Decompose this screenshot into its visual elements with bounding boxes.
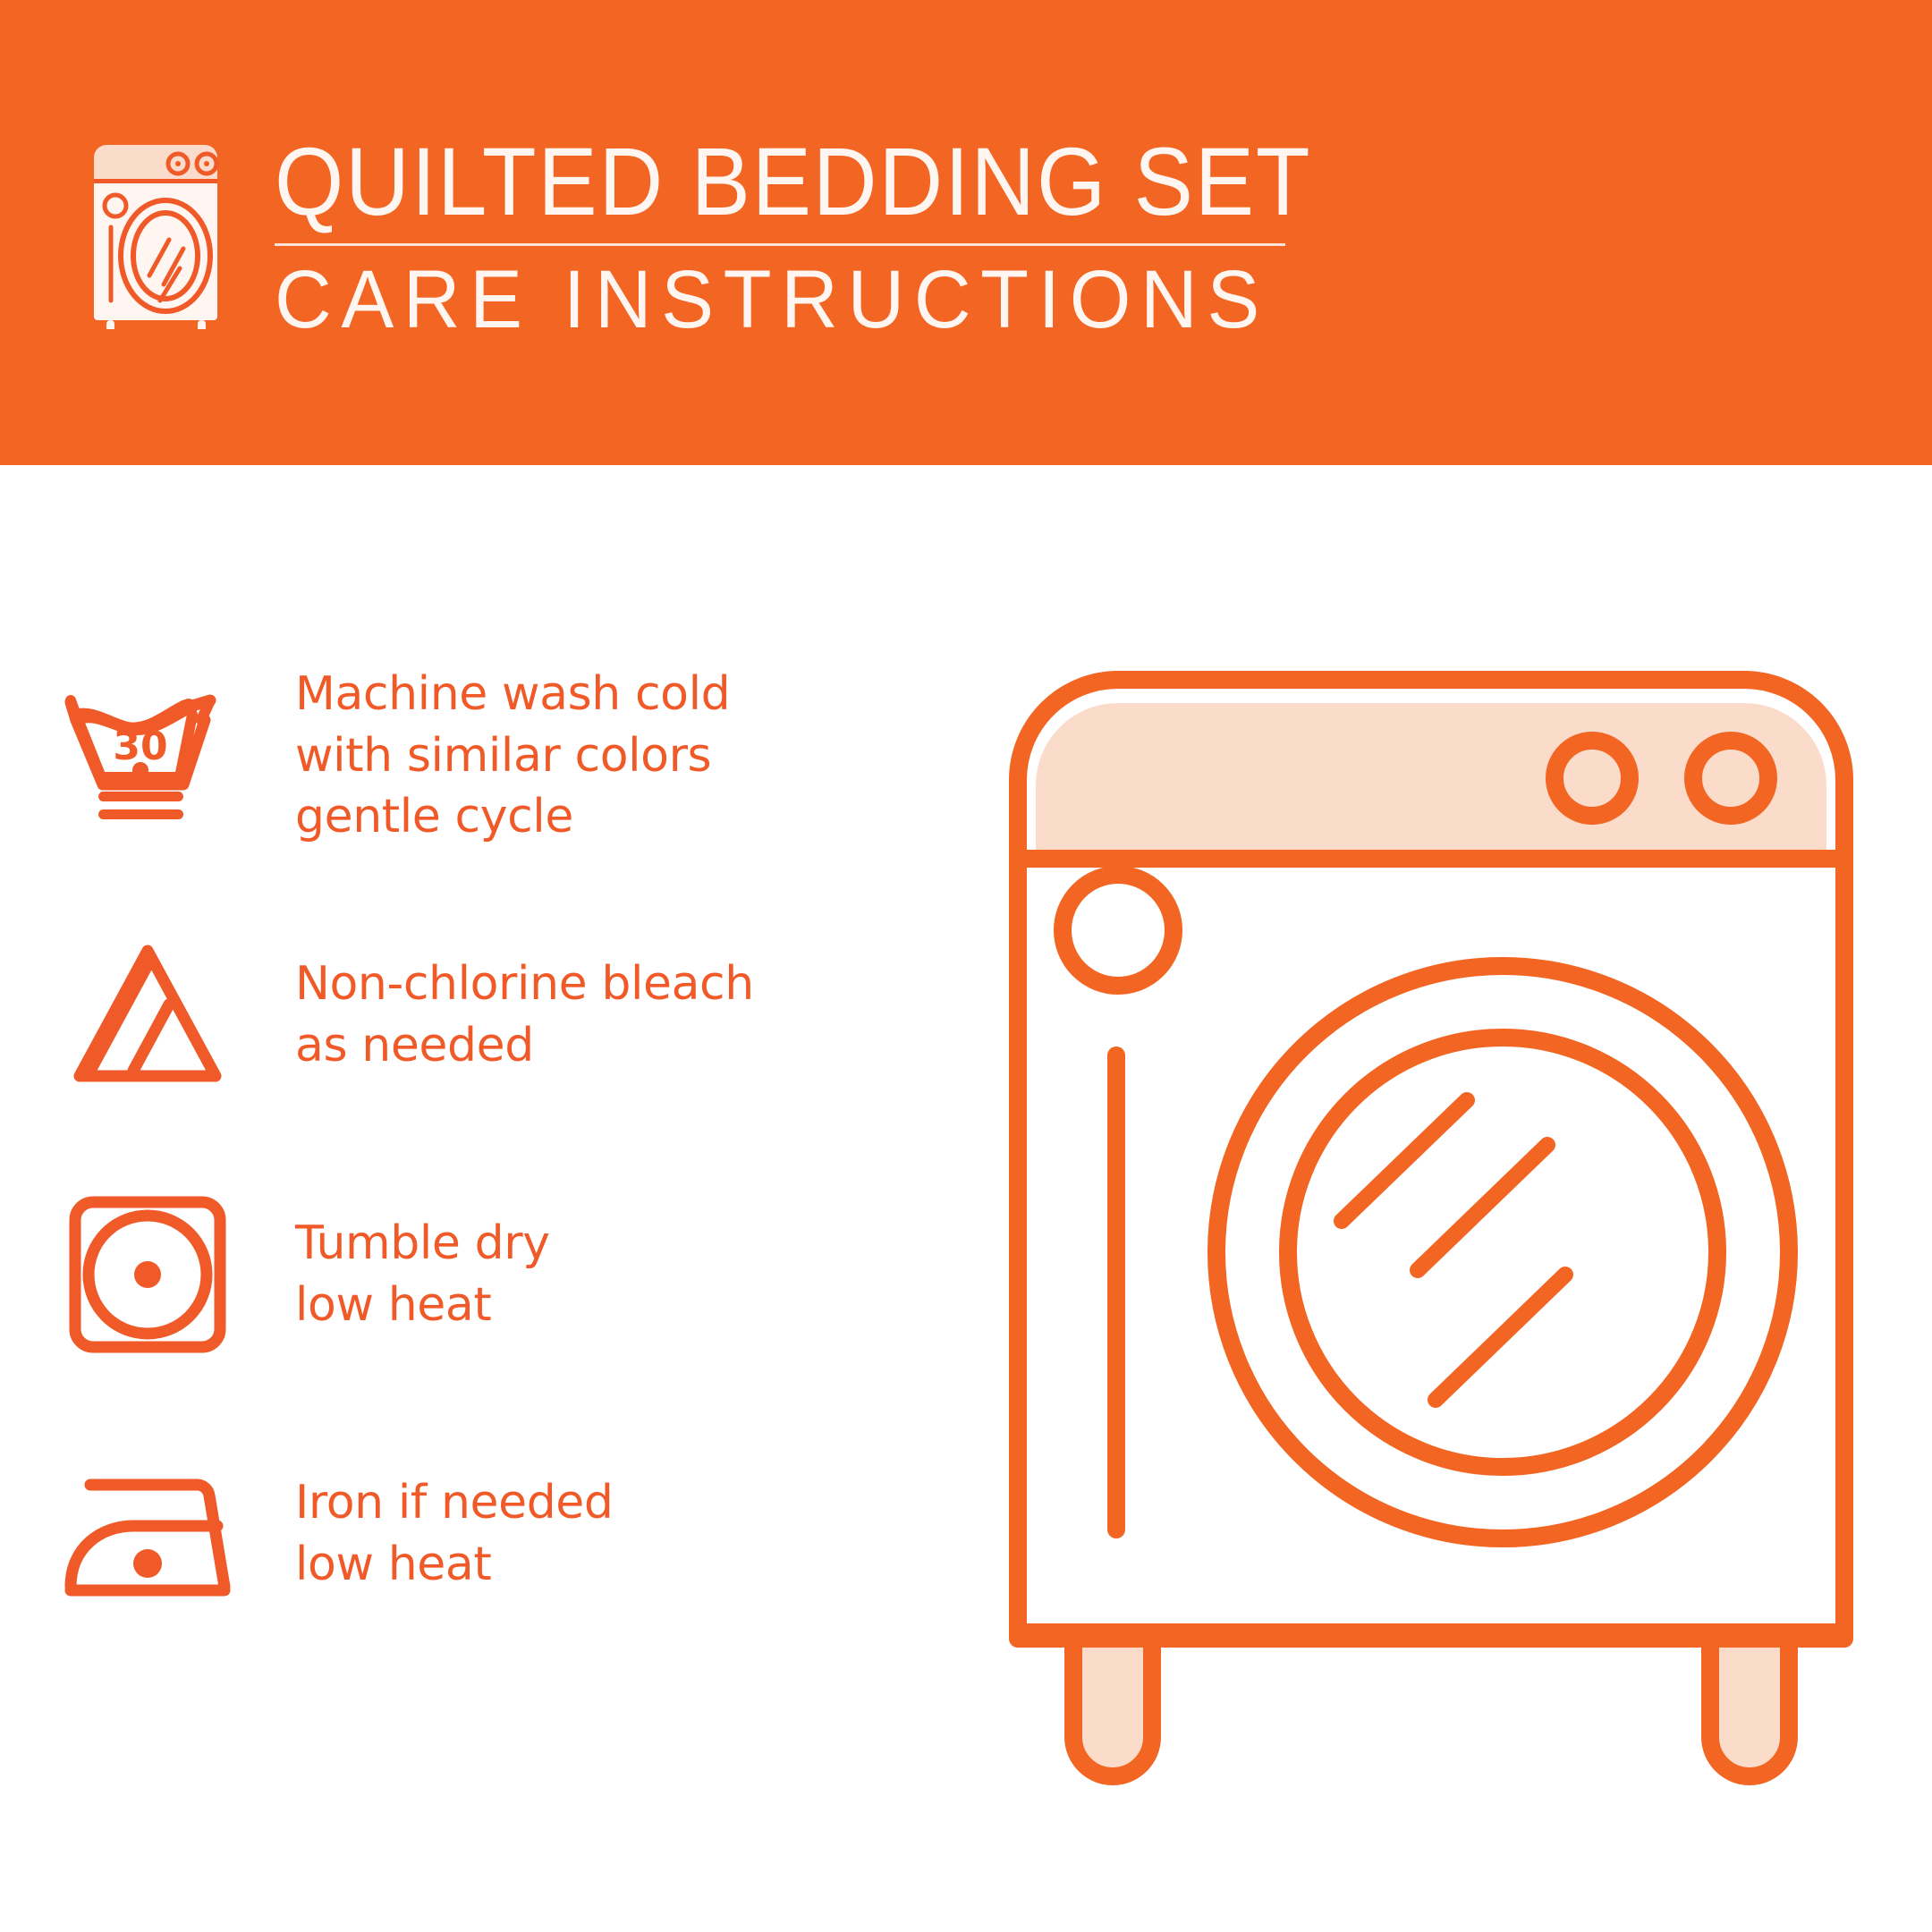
washing-machine-illustration	[966, 626, 1896, 1843]
care-text-machine-wash: Machine wash cold with similar colors ge…	[295, 664, 730, 848]
care-row-tumble-dry: Tumble dry low heat	[0, 1145, 948, 1404]
care-line: low heat	[295, 1534, 614, 1596]
tumble-dry-low-heat-icon	[0, 1190, 295, 1360]
care-row-bleach: Non-chlorine bleach as needed	[0, 885, 948, 1145]
header-titles: QUILTED BEDDING SET CARE INSTRUCTIONS	[275, 132, 1402, 343]
care-line: low heat	[295, 1275, 550, 1336]
care-instructions-list: 30 Machine wash cold with similar colors…	[0, 626, 948, 1664]
care-line: as needed	[295, 1015, 754, 1077]
care-row-iron: Iron if needed low heat	[0, 1404, 948, 1664]
header-banner: QUILTED BEDDING SET CARE INSTRUCTIONS	[0, 0, 1932, 465]
non-chlorine-bleach-triangle-icon	[0, 935, 295, 1096]
page-subtitle: CARE INSTRUCTIONS	[275, 258, 1357, 343]
wash-tub-30-gentle-icon: 30	[0, 684, 295, 827]
header-content: QUILTED BEDDING SET CARE INSTRUCTIONS	[85, 132, 1402, 343]
foot-right	[1710, 1639, 1789, 1776]
foot-left	[1073, 1639, 1152, 1776]
washing-machine-icon	[85, 141, 235, 329]
title-divider	[275, 243, 1285, 246]
care-line: Machine wash cold	[295, 664, 730, 725]
care-text-iron: Iron if needed low heat	[295, 1472, 614, 1595]
care-line: Non-chlorine bleach	[295, 953, 754, 1015]
care-row-machine-wash: 30 Machine wash cold with similar colors…	[0, 626, 948, 885]
care-line: Iron if needed	[295, 1472, 614, 1534]
care-line: Tumble dry	[295, 1213, 550, 1275]
care-text-tumble-dry: Tumble dry low heat	[295, 1213, 550, 1335]
iron-low-heat-icon	[0, 1458, 295, 1610]
control-panel	[1036, 703, 1826, 859]
care-line: with similar colors	[295, 725, 730, 787]
care-line: gentle cycle	[295, 786, 730, 848]
page-title: QUILTED BEDDING SET	[275, 132, 1311, 231]
care-text-bleach: Non-chlorine bleach as needed	[295, 953, 754, 1076]
